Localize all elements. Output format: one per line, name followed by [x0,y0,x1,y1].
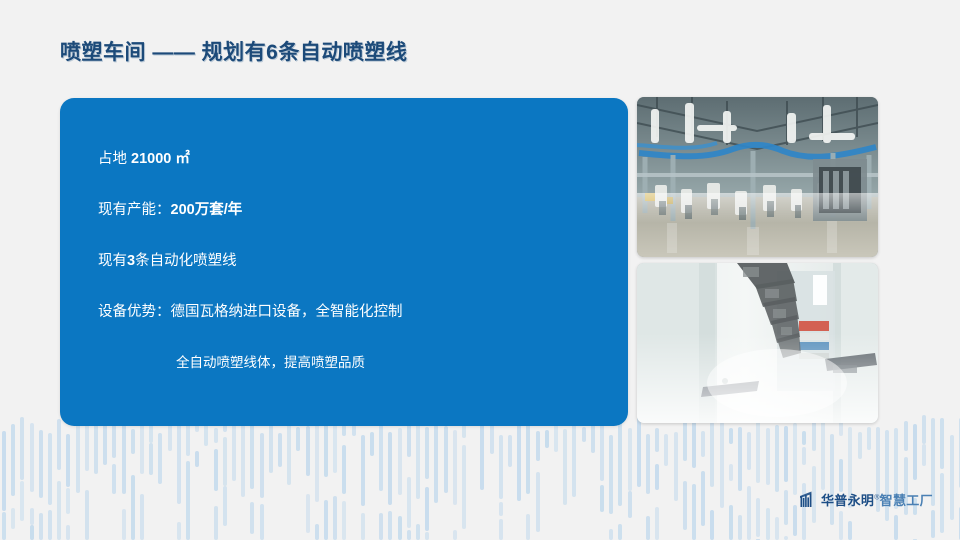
decor-bar-column [591,410,595,540]
decor-bar-column [269,410,273,540]
decor-bar-column [756,410,760,540]
decor-bar-segment [122,509,126,540]
decor-bar-segment [784,536,788,540]
decor-bar-segment [830,434,834,525]
decor-bar-segment [453,530,457,540]
decor-bar-segment [250,502,254,534]
decor-bar-segment [609,529,613,540]
decor-bar-column [508,410,512,540]
decor-bar-column [536,410,540,540]
decor-bar-segment [269,424,273,473]
decor-bar-column [554,410,558,540]
decor-bar-segment [655,507,659,540]
decor-bar-column [867,410,871,540]
decor-bar-segment [278,433,282,467]
decor-bar-column [793,410,797,540]
decor-bar-column [747,410,751,540]
decor-bar-segment [710,422,714,487]
info-line-existing-lines-suffix: 条自动化喷塑线 [135,253,237,269]
decor-bar-segment [30,423,34,492]
decor-bar-segment [85,490,89,540]
decor-bar-segment [950,435,954,520]
decor-bar-column [894,410,898,540]
decor-bar-segment [333,496,337,540]
decor-bar-segment [692,484,696,540]
decor-bar-segment [545,430,549,448]
decor-bar-column [11,410,15,540]
decor-bar-segment [76,415,80,493]
decor-bar-column [563,410,567,540]
decor-bar-segment [315,420,319,502]
decor-bar-column [812,410,816,540]
decor-bar-segment [2,431,6,511]
decor-bar-segment [756,416,760,483]
info-line-existing-lines: 现有3条自动化喷塑线 [98,252,604,270]
decor-bar-column [674,410,678,540]
decor-bar-segment [517,418,521,501]
decor-bar-column [710,410,714,540]
info-line-existing-lines-value: 3 [127,253,135,269]
decor-bar-segment [241,425,245,497]
decor-bar-segment [195,451,199,467]
decor-bar-column [103,410,107,540]
decor-bar-segment [637,415,641,487]
decor-bar-segment [536,472,540,532]
decor-bar-segment [922,444,926,466]
decor-bar-segment [149,443,153,475]
decor-bar-segment [250,420,254,489]
decor-bar-segment [821,413,825,490]
info-line-capacity-value: 200万套/年 [171,202,243,218]
decor-bar-segment [922,415,926,444]
decor-bar-segment [434,425,438,503]
decor-bar-segment [628,428,632,491]
decor-bar-column [940,410,944,540]
decor-bar-segment [324,500,328,540]
info-line-quality-text: 全自动喷塑线体，提高喷塑品质 [176,355,365,370]
info-panel-text-block: 占地 21000 ㎡ 现有产能：200万套/年 现有3条自动化喷塑线 设备优势：… [98,150,604,371]
decor-bar-segment [370,432,374,456]
decor-bar-segment [600,485,604,512]
decor-bar-segment [618,417,622,506]
decor-bar-column [112,410,116,540]
decor-bar-segment [342,501,346,540]
decor-bar-column [168,410,172,540]
decor-bar-column [821,410,825,540]
decor-bar-segment [223,486,227,526]
decor-bar-segment [398,428,402,495]
decor-bar-column [66,410,70,540]
decor-bar-column [830,410,834,540]
decor-bar-segment [177,417,181,504]
brand-suffix: 智慧工厂 [880,493,933,508]
brand-name: 华普永明 [821,493,874,508]
brand-logo: 华普永明®智慧工厂 [800,490,933,509]
decor-bar-column [425,410,429,540]
decor-bar-segment [701,431,705,457]
decor-bar-segment [784,426,788,482]
decor-bar-segment [655,464,659,490]
decor-bar-column [122,410,126,540]
decor-bar-column [885,410,889,540]
decor-bar-column [39,410,43,540]
decor-bar-column [195,410,199,540]
decor-bar-segment [766,508,770,540]
decor-bar-segment [802,447,806,465]
decor-bar-segment [462,445,466,529]
decor-bar-segment [407,530,411,540]
info-panel: 占地 21000 ㎡ 现有产能：200万套/年 现有3条自动化喷塑线 设备优势：… [60,98,628,426]
decor-bar-segment [655,428,659,452]
decor-bar-segment [66,434,70,487]
decor-bar-column [784,410,788,540]
decor-bar-column [444,410,448,540]
decor-bar-column [637,410,641,540]
decor-bar-segment [407,477,411,528]
decor-bar-segment [646,434,650,494]
decor-bar-segment [57,481,61,540]
decor-bar-column [453,410,457,540]
decor-bar-segment [904,421,908,451]
decor-bar-column [931,410,935,540]
decor-bar-segment [30,525,34,540]
decor-bar-segment [131,429,135,454]
decor-bar-segment [499,519,503,540]
decor-bar-segment [30,508,34,525]
decor-bar-segment [11,424,15,496]
decor-bar-column [655,410,659,540]
decor-bar-segment [186,461,190,540]
decor-bar-column [85,410,89,540]
decor-bar-segment [379,416,383,491]
decor-bar-segment [260,433,264,498]
decor-bar-segment [582,427,586,442]
decor-bar-column [149,410,153,540]
decor-bar-segment [214,428,218,443]
decor-bar-segment [646,516,650,540]
info-line-existing-lines-prefix: 现有 [98,253,127,269]
decor-bar-segment [747,486,751,540]
decor-bar-column [250,410,254,540]
decor-bar-column [618,410,622,540]
decor-bar-column [94,410,98,540]
brand-logo-text: 华普永明®智慧工厂 [821,490,933,509]
decor-bar-column [664,410,668,540]
decor-bar-segment [361,513,365,540]
decor-bar-segment [839,459,843,492]
decor-bar-segment [425,532,429,540]
decor-bar-column [692,410,696,540]
decor-bar-column [701,410,705,540]
decor-bar-segment [499,502,503,516]
decor-bar-segment [913,424,917,480]
decor-bar-column [499,410,503,540]
decor-bar-column [296,410,300,540]
decor-bar-segment [738,515,742,540]
decor-bar-segment [867,427,871,450]
decor-bar-column [48,410,52,540]
decor-bar-column [407,410,411,540]
decor-bar-column [287,410,291,540]
decor-bar-column [517,410,521,540]
decor-bar-segment [664,434,668,466]
decor-bar-column [342,410,346,540]
decor-bar-segment [177,522,181,540]
decor-bar-column [775,410,779,540]
decor-bar-segment [775,425,779,492]
decor-bar-segment [940,473,944,533]
decor-bar-segment [536,431,540,461]
decor-bar-column [683,410,687,540]
decor-bar-segment [766,428,770,485]
decor-bar-segment [66,525,70,540]
decor-bar-segment [526,514,530,540]
decor-bar-column [140,410,144,540]
decor-bar-segment [379,513,383,540]
decor-bar-column [186,410,190,540]
info-line-capacity-prefix: 现有产能： [98,202,171,218]
decor-bar-segment [232,420,236,481]
info-line-area-prefix: 占地 [98,151,131,167]
vertical-bars-pattern [0,410,960,540]
decor-bar-column [471,410,475,540]
decor-bar-segment [453,430,457,505]
decor-bar-column [490,410,494,540]
decor-bar-segment [425,427,429,479]
decor-bar-column [158,410,162,540]
decor-bar-segment [674,432,678,501]
decor-bar-segment [480,415,484,490]
decor-bar-column [729,410,733,540]
decor-bar-segment [39,430,43,498]
decor-bar-segment [158,433,162,484]
slide-canvas: 喷塑车间 —— 规划有6条自动喷塑线 占地 21000 ㎡ 现有产能：200万套… [0,0,960,540]
decor-bar-column [2,410,6,540]
decor-bar-column [223,410,227,540]
decor-bar-column [177,410,181,540]
decor-bar-segment [729,505,733,540]
decor-bar-column [324,410,328,540]
decor-bar-segment [738,427,742,491]
decor-bar-segment [214,449,218,491]
decor-bar-segment [296,427,300,451]
decor-bar-segment [526,417,530,494]
decor-bar-segment [931,510,935,538]
decor-bar-column [352,410,356,540]
decor-bar-column [462,410,466,540]
info-line-equipment-advantage-text: 设备优势：德国瓦格纳进口设备，全智能化控制 [98,304,403,320]
factory-building-icon [800,491,817,508]
decor-bar-segment [214,506,218,540]
workshop-photo-graphic [637,97,878,257]
decor-bar-segment [112,464,116,494]
decor-bar-segment [260,504,264,540]
decor-bar-segment [48,510,52,540]
decor-bar-column [398,410,402,540]
decor-bar-segment [609,435,613,514]
decor-bar-column [766,410,770,540]
decor-bar-segment [499,435,503,499]
decor-bar-column [76,410,80,540]
decor-bar-column [738,410,742,540]
decor-bar-column [361,410,365,540]
decor-bar-segment [416,417,420,499]
decor-bar-segment [729,428,733,444]
decor-bar-segment [131,475,135,540]
decor-bar-column [904,410,908,540]
decor-bar-column [131,410,135,540]
decor-bar-column [315,410,319,540]
decor-bar-segment [315,524,319,540]
decor-bar-column [572,410,576,540]
decor-bar-segment [720,422,724,508]
decor-bar-segment [66,488,70,514]
decor-bar-column [526,410,530,540]
decor-bar-column [913,410,917,540]
decor-bar-segment [710,510,714,540]
info-line-equipment-advantage: 设备优势：德国瓦格纳进口设备，全智能化控制 [98,303,604,321]
decor-bar-segment [416,524,420,540]
decor-bar-segment [775,517,779,540]
decor-bar-segment [784,490,788,525]
decor-bar-segment [306,426,310,476]
decor-bar-column [720,410,724,540]
spray-booth-photo-graphic [637,263,878,423]
page-title: 喷塑车间 —— 规划有6条自动喷塑线 [60,36,407,66]
decor-bar-segment [2,512,6,540]
decor-bar-segment [701,471,705,526]
decor-bar-segment [839,511,843,540]
decor-bar-column [434,410,438,540]
decor-bar-segment [425,487,429,531]
decor-bar-column [333,410,337,540]
decor-bar-segment [802,431,806,445]
decor-bar-segment [342,445,346,494]
decor-bar-column [802,410,806,540]
decor-bar-column [416,410,420,540]
decor-bar-segment [572,414,576,497]
decor-bar-segment [858,432,862,459]
decor-bar-segment [444,426,448,493]
decor-bar-segment [57,419,61,470]
decor-bar-segment [11,508,15,529]
decor-bar-column [848,410,852,540]
decor-bar-column [545,410,549,540]
decor-bar-column [628,410,632,540]
decor-bar-segment [628,491,632,518]
info-line-area: 占地 21000 ㎡ [98,150,604,168]
decor-bar-segment [756,498,760,537]
decor-bar-segment [683,481,687,530]
decor-bar-column [480,410,484,540]
decor-bar-segment [894,515,898,540]
decor-bar-column [388,410,392,540]
decor-bar-column [950,410,954,540]
decor-bar-column [20,410,24,540]
info-line-capacity: 现有产能：200万套/年 [98,201,604,219]
decor-bar-column [609,410,613,540]
decor-bar-segment [793,423,797,495]
decor-bar-column [260,410,264,540]
decor-bar-segment [729,464,733,481]
decor-bar-column [582,410,586,540]
decor-bar-column [306,410,310,540]
decor-bar-column [876,410,880,540]
decor-bar-column [922,410,926,540]
decor-bar-segment [20,417,24,480]
decor-bar-column [232,410,236,540]
info-line-area-value: 21000 ㎡ [131,151,190,167]
decor-bar-segment [848,521,852,540]
decor-bar-segment [48,433,52,505]
decor-bar-segment [140,494,144,540]
decor-bar-column [241,410,245,540]
decor-bar-segment [39,513,43,540]
decor-bar-column [30,410,34,540]
decor-bar-segment [388,432,392,505]
decor-bar-segment [223,437,227,486]
decor-bar-column [370,410,374,540]
decor-bar-column [278,410,282,540]
decor-bar-column [204,410,208,540]
info-line-quality: 全自动喷塑线体，提高喷塑品质 [98,355,604,372]
decor-bar-segment [388,511,392,540]
decor-bar-column [839,410,843,540]
decor-bar-column [646,410,650,540]
decor-bar-column [214,410,218,540]
workshop-overhead-conveyor-photo [637,97,878,257]
decor-bar-column [379,410,383,540]
decor-bar-segment [747,432,751,470]
decor-bar-segment [398,516,402,540]
decor-bar-segment [20,481,24,521]
spray-booth-interior-photo [637,263,878,423]
decor-bar-column [57,410,61,540]
decor-bar-segment [306,494,310,533]
decor-bar-segment [324,420,328,477]
decor-bar-segment [618,524,622,540]
decor-bar-segment [793,505,797,536]
decor-bar-segment [122,418,126,494]
decor-bar-segment [508,435,512,467]
decor-bar-column [600,410,604,540]
decor-bar-segment [940,418,944,469]
decor-bar-segment [361,435,365,506]
decor-bar-column [858,410,862,540]
decor-bar-segment [563,429,567,505]
